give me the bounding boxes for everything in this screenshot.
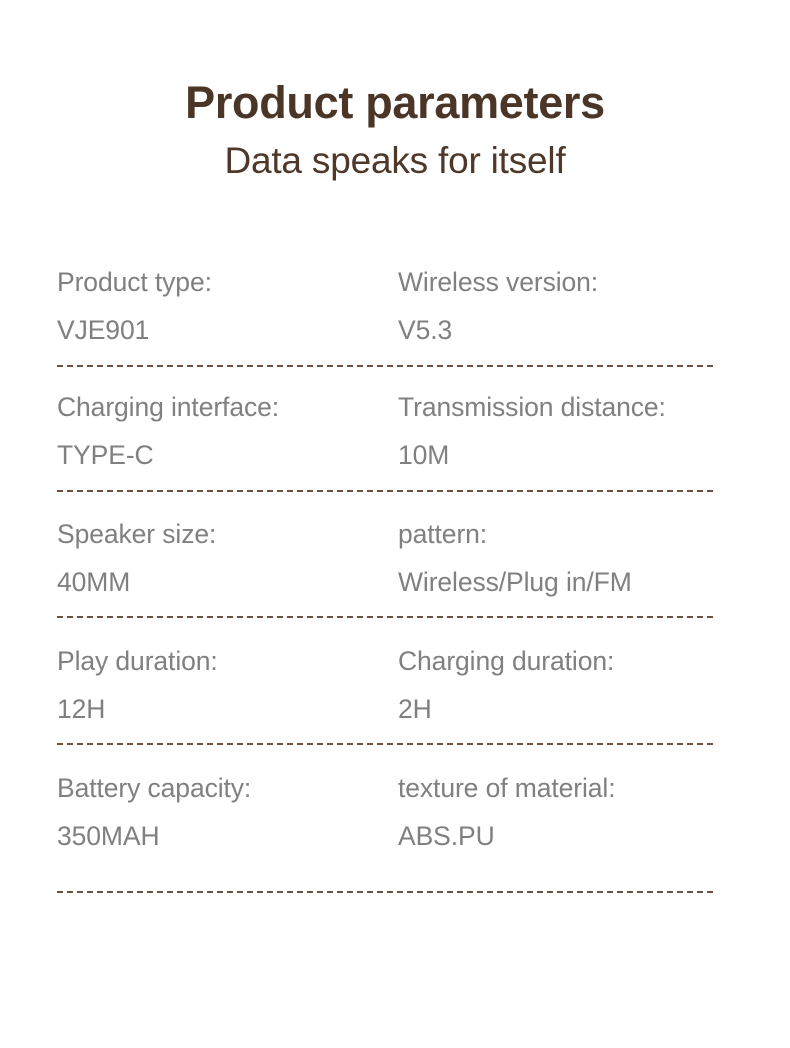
row-divider: [57, 891, 713, 893]
spec-label: Charging interface:: [57, 383, 398, 431]
spec-cell-left: Play duration: 12H: [57, 637, 398, 733]
spec-label: Battery capacity:: [57, 764, 398, 812]
spec-label: pattern:: [398, 510, 713, 558]
spec-value: TYPE-C: [57, 431, 398, 479]
spec-value: 2H: [398, 685, 713, 733]
spec-row: Charging interface: TYPE-C Transmission …: [57, 383, 713, 479]
spec-label: Charging duration:: [398, 637, 713, 685]
page-title: Product parameters: [0, 78, 790, 128]
page-header: Product parameters Data speaks for itsel…: [0, 78, 790, 183]
spec-label: Transmission distance:: [398, 383, 713, 431]
spec-value: VJE901: [57, 306, 398, 354]
spec-row: Speaker size: 40MM pattern: Wireless/Plu…: [57, 510, 713, 606]
spec-value: ABS.PU: [398, 812, 713, 860]
spec-label: Speaker size:: [57, 510, 398, 558]
page-subtitle: Data speaks for itself: [0, 140, 790, 183]
spec-label: texture of material:: [398, 764, 713, 812]
spec-cell-right: Transmission distance: 10M: [398, 383, 713, 479]
spec-cell-left: Battery capacity: 350MAH: [57, 764, 398, 860]
spec-value: V5.3: [398, 306, 713, 354]
product-parameters-page: Product parameters Data speaks for itsel…: [0, 0, 790, 1048]
spec-cell-right: Wireless version: V5.3: [398, 258, 713, 354]
spec-label: Play duration:: [57, 637, 398, 685]
spec-row: Play duration: 12H Charging duration: 2H: [57, 637, 713, 733]
spec-value: 10M: [398, 431, 713, 479]
spec-cell-left: Product type: VJE901: [57, 258, 398, 354]
spec-value: 350MAH: [57, 812, 398, 860]
spec-value: 12H: [57, 685, 398, 733]
spec-value: 40MM: [57, 558, 398, 606]
spec-row: Battery capacity: 350MAH texture of mate…: [57, 764, 713, 860]
spec-label: Wireless version:: [398, 258, 713, 306]
spec-value: Wireless/Plug in/FM: [398, 558, 713, 606]
spec-cell-right: texture of material: ABS.PU: [398, 764, 713, 860]
spec-cell-left: Charging interface: TYPE-C: [57, 383, 398, 479]
spec-cell-left: Speaker size: 40MM: [57, 510, 398, 606]
spec-row: Product type: VJE901 Wireless version: V…: [57, 258, 713, 354]
spec-label: Product type:: [57, 258, 398, 306]
spec-table: Product type: VJE901 Wireless version: V…: [57, 258, 713, 893]
spec-cell-right: pattern: Wireless/Plug in/FM: [398, 510, 713, 606]
spec-cell-right: Charging duration: 2H: [398, 637, 713, 733]
